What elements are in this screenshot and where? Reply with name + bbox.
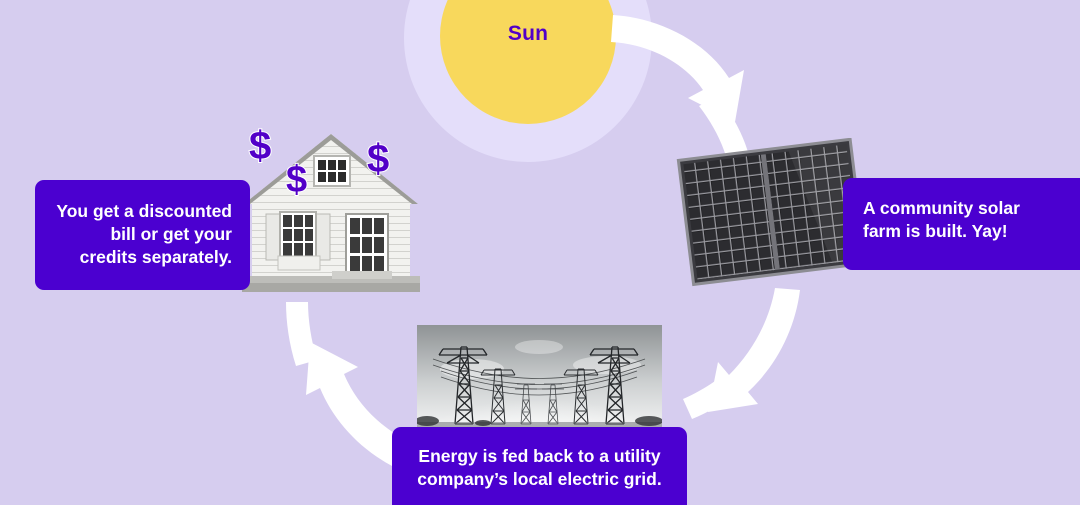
- callout-house-credits: You get a discounted bill or get your cr…: [35, 180, 250, 290]
- callout-utility-grid: Energy is fed back to a utility company’…: [392, 427, 687, 505]
- power-transmission-towers-photo: [417, 325, 662, 430]
- dollar-sign-icon: $: [367, 139, 389, 179]
- arrow-panel-to-grid-icon: [683, 288, 800, 419]
- sun-label: Sun: [440, 22, 616, 46]
- callout-solar-farm: A community solar farm is built. Yay!: [843, 178, 1080, 270]
- dollar-sign-icon: $: [249, 126, 271, 166]
- solar-panel-photo: [676, 138, 866, 288]
- dollar-sign-icon: $: [286, 161, 307, 199]
- diagram-canvas: Sun: [0, 0, 1080, 505]
